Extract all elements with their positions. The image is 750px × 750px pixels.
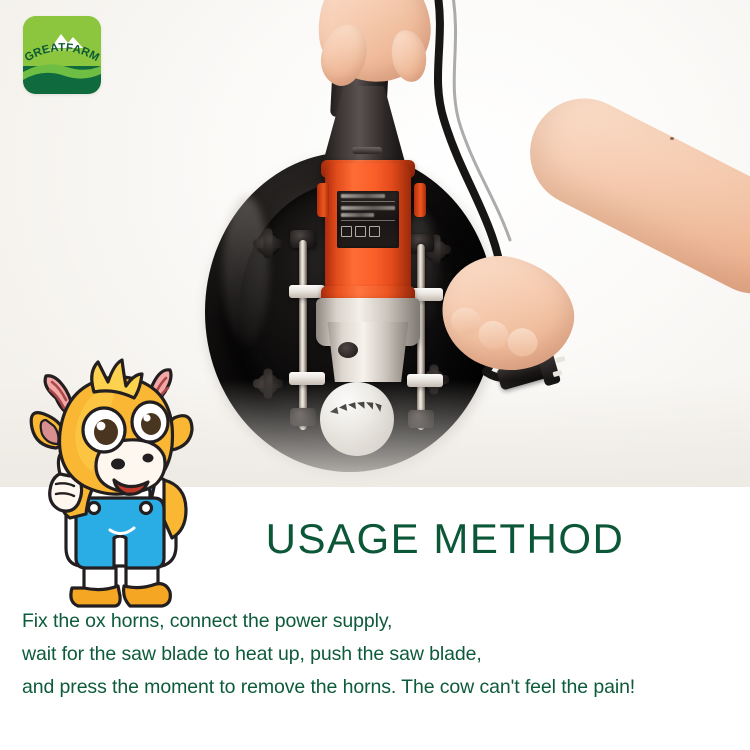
mascot-shoe-left bbox=[71, 586, 120, 606]
mascot-nostril-right bbox=[143, 454, 154, 463]
usage-description: Fix the ox horns, connect the power supp… bbox=[22, 605, 734, 704]
mascot-side-body bbox=[164, 480, 186, 538]
logo-artwork: GREATFARM bbox=[23, 16, 101, 94]
cow-mascot bbox=[22, 352, 217, 614]
mascot-button-left bbox=[89, 503, 100, 514]
mascot-eye-glint-left bbox=[97, 422, 106, 431]
mascot-shoe-right bbox=[124, 584, 171, 606]
mascot-pupil-left bbox=[94, 419, 118, 445]
promotional-product-page: GREATFARM bbox=[0, 0, 750, 750]
mascot-forelock bbox=[92, 360, 142, 398]
greatfarm-logo: GREATFARM bbox=[23, 16, 101, 94]
mascot-eye-glint-right bbox=[143, 414, 150, 421]
mascot-button-right bbox=[141, 503, 152, 514]
cow-mascot-artwork bbox=[22, 352, 217, 614]
mascot-nostril-left bbox=[111, 459, 125, 470]
description-line-2: wait for the saw blade to heat up, push … bbox=[22, 638, 734, 671]
description-line-3: and press the moment to remove the horns… bbox=[22, 671, 734, 704]
